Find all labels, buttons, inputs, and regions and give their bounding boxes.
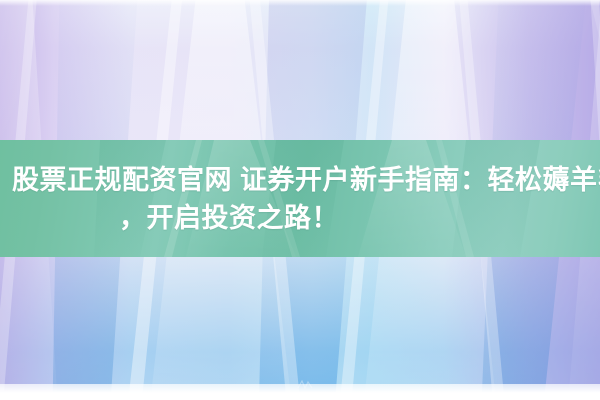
- top-highlight-line: [0, 0, 600, 6]
- headline-text-block: 股票正规配资官网 证券开户新手指南：轻松薅羊毛 ，开启投资之路！: [0, 140, 600, 257]
- bottom-white-strip: [0, 384, 600, 400]
- promotional-banner: 股票正规配资官网 证券开户新手指南：轻松薅羊毛 ，开启投资之路！: [0, 0, 600, 400]
- headline-line-2: ，开启投资之路！: [12, 199, 586, 237]
- headline-line-1: 股票正规配资官网 证券开户新手指南：轻松薅羊毛: [12, 161, 586, 199]
